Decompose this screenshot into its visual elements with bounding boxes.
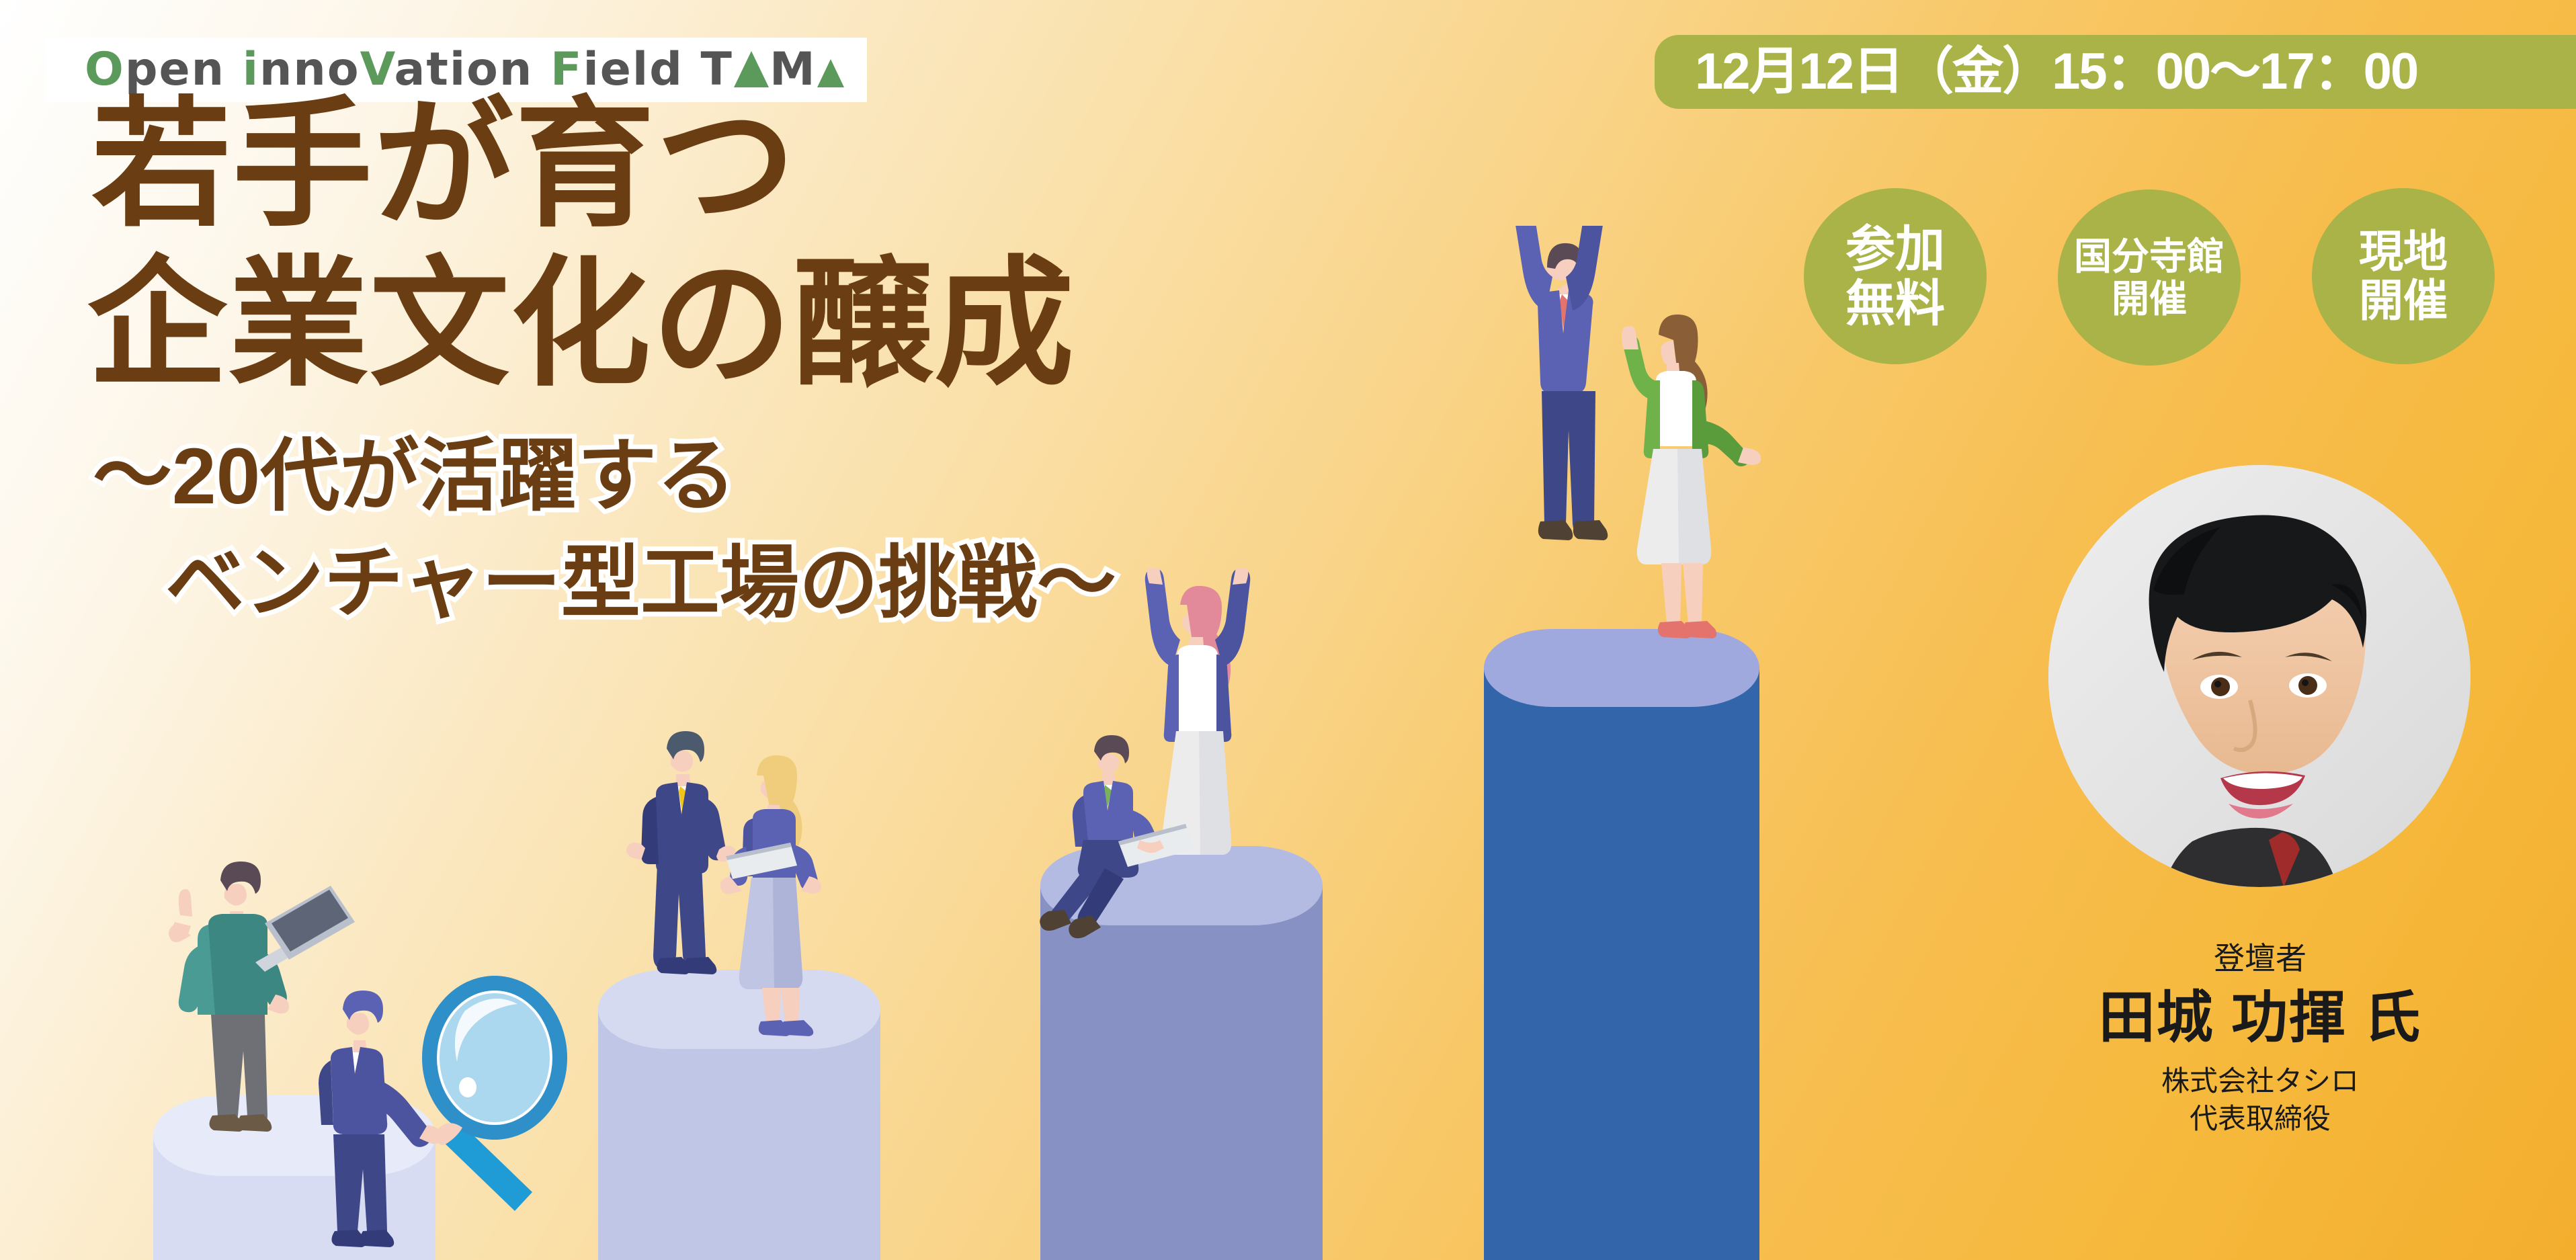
subtitle-line-2: ベンチャー型工場の挑戦〜 bbox=[165, 530, 1116, 637]
badge-onsite-line2: 開催 bbox=[2359, 278, 2448, 323]
badge-onsite: 現地 開催 bbox=[2312, 188, 2495, 364]
figure-man-seated-laptop bbox=[1019, 728, 1247, 970]
pillar-4 bbox=[1484, 667, 1759, 1260]
title-line-1: 若手が育つ bbox=[91, 86, 1075, 245]
badge-participation-free: 参加 無料 bbox=[1804, 188, 1987, 364]
badge-venue-kokubunji: 国分寺館 開催 bbox=[2058, 190, 2241, 366]
event-banner: Open innoVation Field TM 12月12日（金）15：00〜… bbox=[0, 0, 2576, 1260]
date-text: 12月12日（金）15：00〜17：00 bbox=[1695, 46, 2417, 97]
badge-free-line2: 無料 bbox=[1845, 278, 1945, 329]
speaker-role-label: 登壇者 bbox=[2023, 939, 2497, 978]
figure-woman-green-cardigan bbox=[1591, 296, 1793, 712]
badge-venue-line2: 開催 bbox=[2112, 280, 2187, 318]
badge-onsite-line1: 現地 bbox=[2359, 229, 2448, 274]
badge-venue-line1: 国分寺館 bbox=[2074, 237, 2225, 276]
speaker-position: 代表取締役 bbox=[2023, 1100, 2497, 1138]
speaker-photo bbox=[2048, 465, 2470, 887]
speaker-info: 登壇者 田城 功揮 氏 株式会社タシロ 代表取締役 bbox=[2023, 939, 2497, 1138]
main-title: 若手が育つ 企業文化の醸成 bbox=[87, 86, 1075, 405]
subtitle: 〜20代が活躍する ベンチャー型工場の挑戦〜 bbox=[81, 423, 1116, 638]
speaker-name: 田城 功揮 氏 bbox=[2023, 981, 2497, 1054]
subtitle-line-1: 〜20代が活躍する bbox=[93, 423, 1116, 530]
badge-free-line1: 参加 bbox=[1845, 224, 1945, 274]
figure-woman-laptop bbox=[706, 751, 894, 1047]
pillar-4-body bbox=[1484, 667, 1759, 1260]
figure-man-magnifier bbox=[296, 974, 578, 1260]
title-line-2: 企業文化の醸成 bbox=[87, 245, 1075, 405]
speaker-company: 株式会社タシロ bbox=[2023, 1062, 2497, 1101]
date-banner: 12月12日（金）15：00〜17：00 bbox=[1655, 35, 2576, 109]
